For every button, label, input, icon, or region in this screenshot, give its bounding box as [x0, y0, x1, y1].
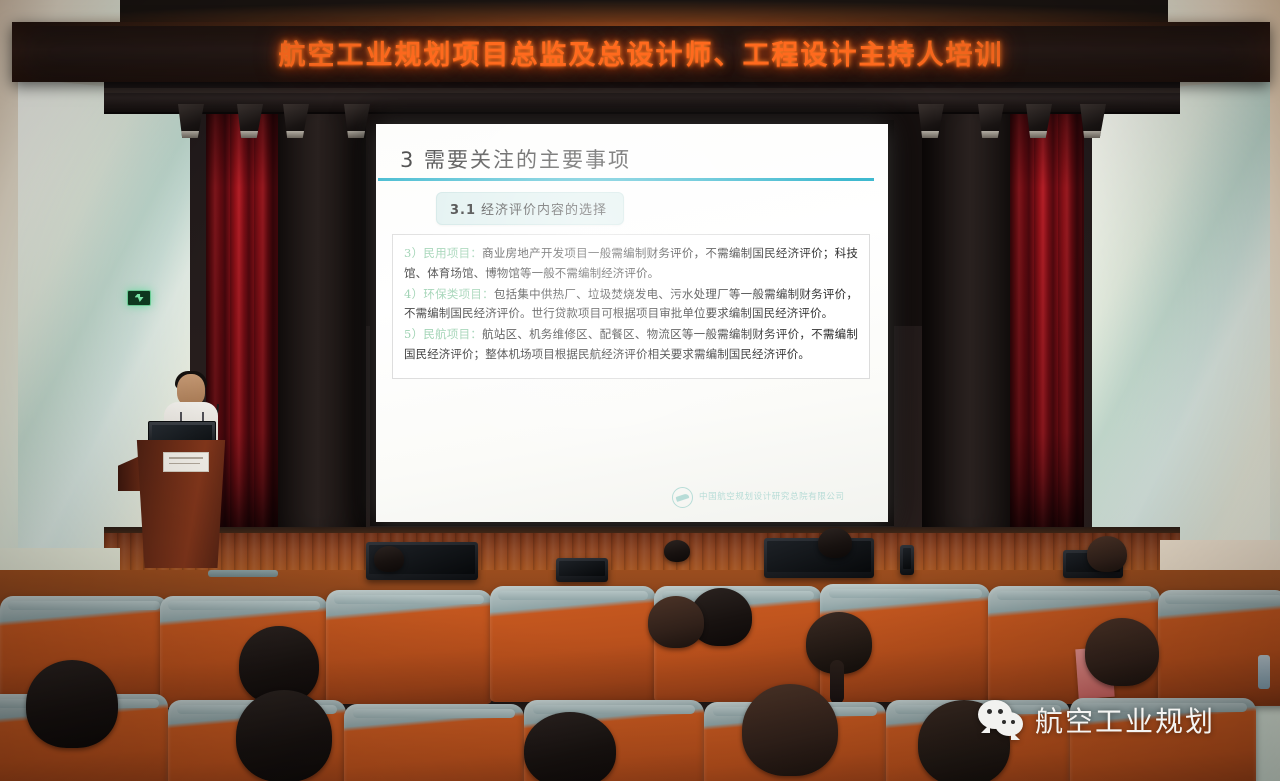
auditorium-seat [490, 586, 656, 702]
banner-glow [12, 0, 1270, 26]
curtain-dark-left [270, 84, 366, 554]
wechat-eye [1002, 720, 1006, 724]
event-banner-text: 航空工业规划项目总监及总设计师、工程设计主持人培训 [279, 33, 1004, 72]
company-logo-icon [672, 487, 693, 508]
audience-head [524, 712, 616, 781]
audience-head [374, 546, 404, 572]
auditorium-seat [326, 590, 492, 704]
audience-head [648, 596, 704, 648]
wechat-eye [987, 709, 992, 714]
slide-title: 3 需要关注的主要事项 [400, 144, 631, 174]
slide-paragraph-label: 5）民航项目： [404, 327, 482, 341]
lighting-truss [104, 80, 1180, 114]
truss-rail [104, 88, 1180, 93]
slide-company-watermark: 中国航空规划设计研究总院有限公司 [672, 487, 845, 508]
wechat-watermark: 航空工业规划 [978, 700, 1215, 740]
wechat-brand-text: 航空工业规划 [1035, 700, 1215, 740]
desk-monitor [900, 545, 914, 575]
slide-section-number: 3.1 [450, 203, 476, 218]
photo-scene: 3 需要关注的主要事项 3.1经济评价内容的选择 3）民用项目：商业房地产开发项… [0, 0, 1280, 781]
slide-title-rule [378, 178, 874, 181]
curtain-dark-right [922, 84, 1018, 554]
audience-head [664, 540, 690, 562]
wechat-eye [1011, 720, 1015, 724]
audience-head [236, 690, 332, 781]
auditorium-seat [344, 704, 524, 781]
slide-section-title: 经济评价内容的选择 [481, 203, 607, 218]
slide-paragraph: 3）民用项目：商业房地产开发项目一般需编制财务评价，不需编制国民经济评价；科技馆… [404, 244, 858, 284]
slide-section-chip: 3.1经济评价内容的选择 [436, 192, 624, 225]
company-watermark-text: 中国航空规划设计研究总院有限公司 [699, 492, 845, 503]
audience-head [818, 528, 852, 558]
desk-monitor [556, 558, 608, 582]
event-banner: 航空工业规划项目总监及总设计师、工程设计主持人培训 [12, 22, 1270, 82]
projection-screen: 3 需要关注的主要事项 3.1经济评价内容的选择 3）民用项目：商业房地产开发项… [376, 124, 888, 522]
stage-curtain-right [1010, 86, 1084, 548]
podium-name-card [163, 452, 209, 472]
audience-head [742, 684, 838, 776]
audience-head [1085, 618, 1159, 686]
water-bottle [1258, 655, 1270, 689]
slide-paragraph: 5）民航项目：航站区、机务维修区、配餐区、物流区等一般需编制财务评价，不需编制国… [404, 325, 858, 365]
wechat-icon [978, 700, 1026, 740]
desk-rail [208, 570, 278, 577]
slide-body-box: 3）民用项目：商业房地产开发项目一般需编制财务评价，不需编制国民经济评价；科技馆… [392, 234, 870, 379]
emergency-exit-icon [127, 290, 151, 306]
slide-paragraph-label: 3）民用项目： [404, 246, 482, 260]
slide-paragraph-label: 4）环保类项目： [404, 287, 494, 301]
slide-paragraph: 4）环保类项目：包括集中供热厂、垃圾焚烧发电、污水处理厂等一般需编制财务评价，不… [404, 285, 858, 325]
audience-head [1087, 536, 1127, 572]
audience-ponytail [830, 660, 844, 704]
audience-head [26, 660, 118, 748]
wechat-bubble-small [995, 712, 1023, 736]
